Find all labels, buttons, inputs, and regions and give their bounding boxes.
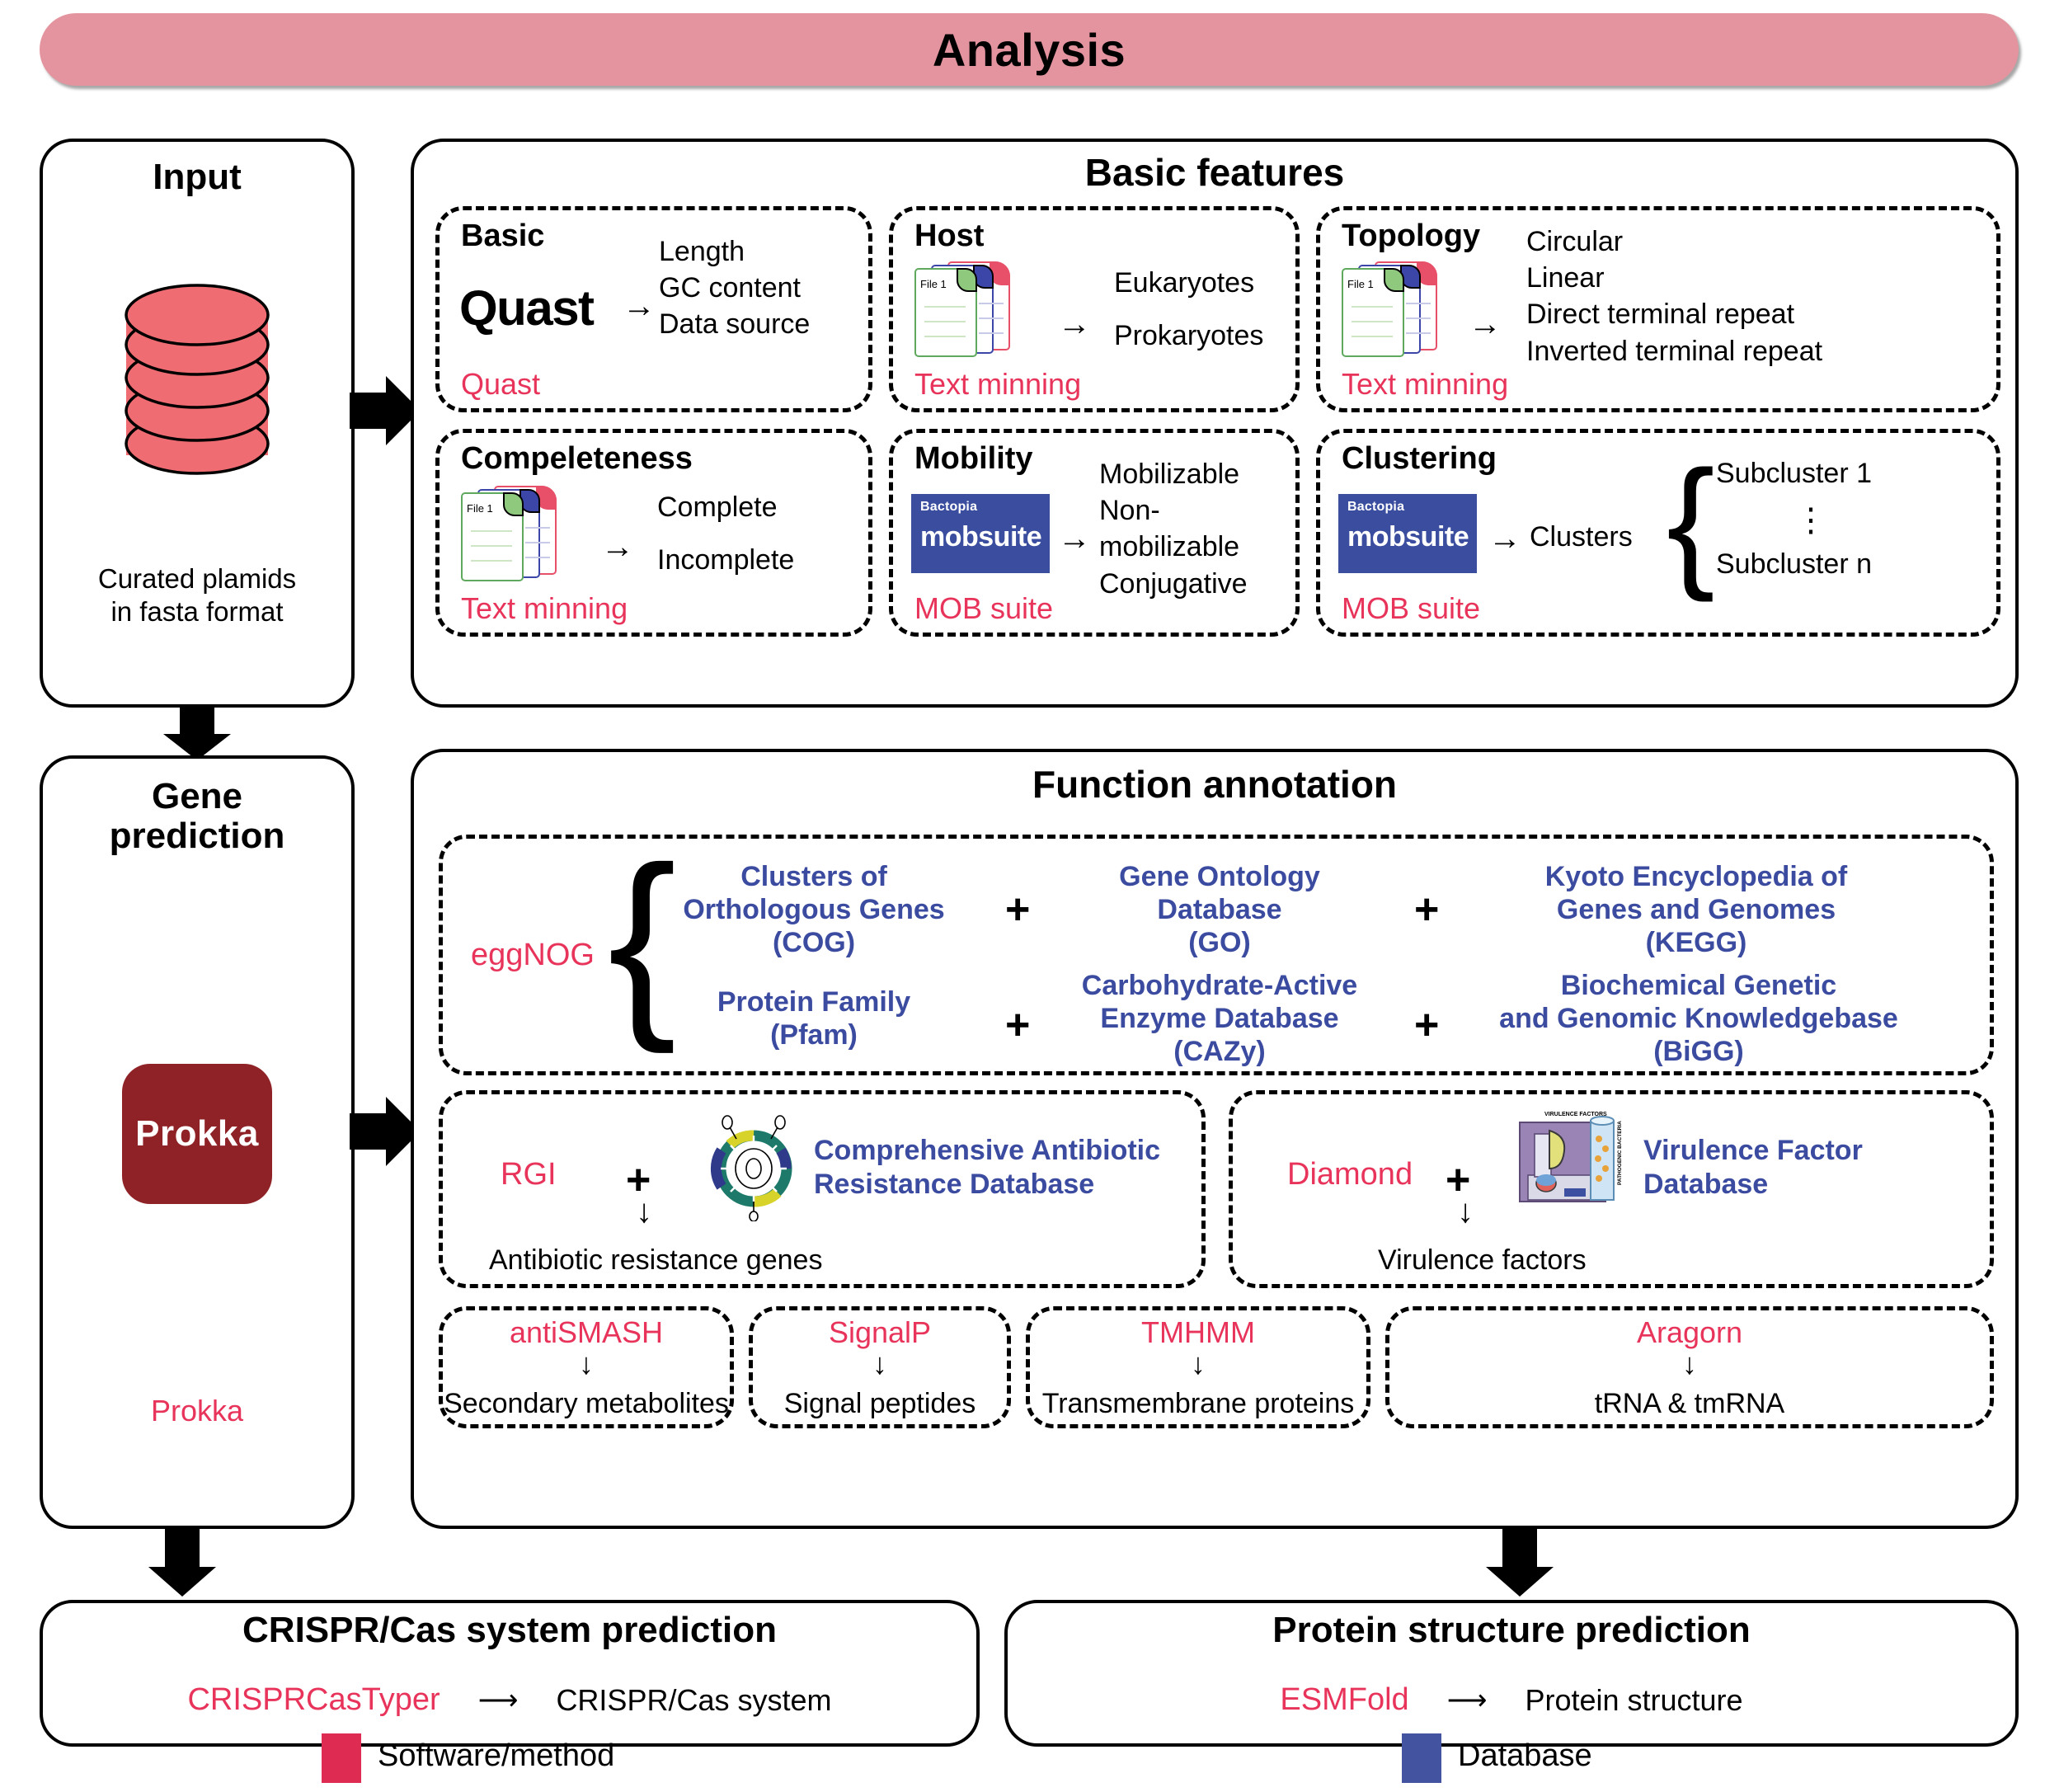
arrow-host-to-outputs: →	[1058, 308, 1091, 341]
cell-name-host: Host	[914, 219, 984, 254]
esmfold-tool-label: ESMFold	[1280, 1682, 1408, 1718]
arrow-tmhmm-to-output: ↓	[1030, 1347, 1366, 1381]
mobsuite-name: mobsuite	[1347, 521, 1469, 553]
legend-swatch-database	[1402, 1733, 1441, 1783]
subcluster-ellipsis: ⋮	[1716, 509, 1906, 532]
cell-name-completeness: Compeleteness	[461, 441, 693, 477]
db-line: Gene Ontology	[1055, 860, 1384, 893]
file-label: File 1	[467, 502, 493, 515]
db-line: Carbohydrate-Active	[1038, 969, 1401, 1002]
protein-row: ESMFold ⟶ Protein structure	[1008, 1682, 2015, 1718]
arrow-aragorn-to-output: ↓	[1389, 1347, 1990, 1381]
file-stack-icon: File 1	[1340, 261, 1441, 360]
prokka-logo-label: Prokka	[135, 1113, 259, 1155]
plus-icon: +	[1005, 1004, 1030, 1047]
cell-tool-host: Text minning	[914, 367, 1081, 402]
db-line: Protein Family	[649, 985, 979, 1018]
database-cog: Clusters of Orthologous Genes (COG)	[649, 860, 979, 959]
db-line: (GO)	[1055, 926, 1384, 959]
input-caption-line2: in fasta format	[43, 595, 351, 628]
clustering-subitems: Subcluster 1 ⋮ Subcluster n	[1716, 459, 1906, 578]
basic-features-cell-clustering: Clustering Bactopia mobsuite → Clusters …	[1316, 429, 2000, 637]
clustering-brace-icon: {	[1667, 463, 1715, 581]
output-item: Circular	[1526, 223, 1822, 260]
function-annotation-panel: Function annotation eggNOG { Clusters of…	[411, 749, 2019, 1529]
rgi-output-label: Antibiotic resistance genes	[489, 1244, 822, 1277]
db-line: Virulence Factor	[1643, 1134, 1990, 1168]
svg-text:PATHOGENIC BACTERIA: PATHOGENIC BACTERIA	[1617, 1121, 1623, 1185]
cell-name-mobility: Mobility	[914, 441, 1033, 477]
output-item: Clusters	[1530, 519, 1633, 555]
database-stack-icon	[111, 282, 283, 492]
antismash-tool-label: antiSMASH	[443, 1315, 730, 1350]
cell-outputs-basic: Length GC content Data source	[659, 233, 810, 343]
db-line: Comprehensive Antibiotic	[814, 1134, 1177, 1168]
rgi-tool-label: RGI	[501, 1157, 557, 1192]
db-line: Database	[1643, 1168, 1990, 1202]
tool-group-antismash: antiSMASH ↓ Secondary metabolites	[439, 1306, 734, 1428]
cell-outputs-clustering: Clusters	[1530, 519, 1633, 555]
rgi-card-group: RGI +	[439, 1090, 1206, 1288]
output-item: Data source	[659, 306, 810, 342]
diamond-output-label: Virulence factors	[1378, 1244, 1587, 1277]
output-item: Conjugative	[1099, 566, 1295, 602]
output-item: Prokaryotes	[1114, 317, 1263, 354]
arrow-crispr: ⟶	[478, 1684, 519, 1717]
input-caption-line1: Curated plamids	[43, 562, 351, 595]
output-item: Mobilizable	[1099, 456, 1295, 492]
cell-tool-mobility: MOB suite	[914, 591, 1053, 626]
tool-group-signalp: SignalP ↓ Signal peptides	[749, 1306, 1011, 1428]
file-label: File 1	[920, 278, 947, 290]
db-line: Kyoto Encyclopedia of	[1465, 860, 1927, 893]
output-item: GC content	[659, 270, 810, 306]
crisprcastyper-tool-label: CRISPRCasTyper	[187, 1682, 440, 1718]
cell-name-basic: Basic	[461, 219, 544, 254]
vfdb-database-label: Virulence Factor Database	[1643, 1134, 1990, 1202]
function-annotation-title: Function annotation	[414, 762, 2015, 807]
basic-features-cell-basic: Basic Quast → Length GC content Data sou…	[435, 206, 872, 412]
database-cazy: Carbohydrate-Active Enzyme Database (CAZ…	[1038, 969, 1401, 1068]
legend-label-database: Database	[1458, 1738, 1592, 1774]
crispr-title: CRISPR/Cas system prediction	[43, 1610, 976, 1651]
file-stack-icon: File 1	[913, 261, 1013, 360]
db-line: Resistance Database	[814, 1168, 1177, 1202]
arrow-completeness-to-outputs: →	[601, 530, 634, 563]
diamond-tool-label: Diamond	[1287, 1157, 1413, 1192]
db-line: (COG)	[649, 926, 979, 959]
card-logo-icon	[705, 1114, 802, 1225]
cell-outputs-mobility: Mobilizable Non-mobilizable Conjugative	[1099, 456, 1295, 602]
arrow-diamond-to-output: ↓	[1457, 1193, 1474, 1230]
db-line: Database	[1055, 893, 1384, 926]
database-kegg: Kyoto Encyclopedia of Genes and Genomes …	[1465, 860, 1927, 959]
cell-name-clustering: Clustering	[1342, 441, 1497, 477]
db-line: Enzyme Database	[1038, 1002, 1401, 1035]
mobsuite-brand: Bactopia	[920, 500, 1042, 515]
cell-outputs-host: Eukaryotes Prokaryotes	[1114, 265, 1263, 354]
arrow-function-annotation-to-protein-structure	[1484, 1527, 1555, 1602]
mobsuite-logo-icon: Bactopia mobsuite	[1338, 494, 1477, 573]
database-pfam: Protein Family (Pfam)	[649, 985, 979, 1051]
aragorn-tool-label: Aragorn	[1389, 1315, 1990, 1350]
output-item: Non-mobilizable	[1099, 492, 1295, 565]
card-database-label: Comprehensive Antibiotic Resistance Data…	[814, 1134, 1177, 1202]
output-item: Linear	[1526, 260, 1822, 296]
banner-title: Analysis	[933, 23, 1126, 77]
cell-outputs-completeness: Complete Incomplete	[657, 489, 794, 578]
arrow-clustering-to-clusters: →	[1488, 522, 1521, 555]
arrow-antismash-to-output: ↓	[443, 1347, 730, 1381]
legend-swatch-software	[322, 1733, 361, 1783]
antismash-output-label: Secondary metabolites	[443, 1388, 730, 1420]
plus-icon: +	[1005, 888, 1030, 931]
tool-group-aragorn: Aragorn ↓ tRNA & tmRNA	[1385, 1306, 1994, 1428]
signalp-output-label: Signal peptides	[753, 1388, 1007, 1420]
output-item: Length	[659, 233, 810, 270]
db-line: Clusters of	[649, 860, 979, 893]
output-item: Complete	[657, 489, 794, 525]
cell-outputs-topology: Circular Linear Direct terminal repeat I…	[1526, 223, 1822, 369]
svg-text:VIRULENCE FACTORS: VIRULENCE FACTORS	[1544, 1112, 1607, 1117]
basic-features-cell-mobility: Mobility Bactopia mobsuite → Mobilizable…	[889, 429, 1300, 637]
arrow-gene-prediction-to-crispr	[147, 1527, 218, 1602]
input-panel: Input Curated plamids in fasta format	[40, 139, 355, 708]
arrow-basic-to-outputs: →	[623, 289, 656, 322]
output-item: Direct terminal repeat	[1526, 296, 1822, 332]
cell-tool-basic: Quast	[461, 367, 540, 402]
gene-prediction-title-line1: Gene	[43, 777, 351, 816]
input-title: Input	[43, 157, 351, 198]
protein-structure-panel: Protein structure prediction ESMFold ⟶ P…	[1004, 1600, 2019, 1747]
gene-prediction-title-line2: prediction	[43, 816, 351, 856]
db-line: Biochemical Genetic	[1455, 969, 1942, 1002]
signalp-tool-label: SignalP	[753, 1315, 1007, 1350]
arrow-mobility-to-outputs: →	[1058, 522, 1091, 555]
db-line: and Genomic Knowledgebase	[1455, 1002, 1942, 1035]
tool-group-tmhmm: TMHMM ↓ Transmembrane proteins	[1026, 1306, 1370, 1428]
subcluster-item: Subcluster 1	[1716, 459, 1906, 487]
crispr-row: CRISPRCasTyper ⟶ CRISPR/Cas system	[43, 1682, 976, 1718]
database-go: Gene Ontology Database (GO)	[1055, 860, 1384, 959]
database-bigg: Biochemical Genetic and Genomic Knowledg…	[1455, 969, 1942, 1068]
quast-wordmark-icon: Quast	[459, 280, 594, 336]
file-label: File 1	[1347, 278, 1374, 290]
basic-features-cell-topology: Topology File 1 → Circular Linear Direct…	[1316, 206, 2000, 412]
plus-icon: +	[1414, 888, 1439, 931]
prokka-logo: Prokka	[122, 1064, 272, 1204]
db-line: (Pfam)	[649, 1018, 979, 1051]
output-item: Inverted terminal repeat	[1526, 333, 1822, 369]
diamond-vfdb-group: Diamond + VIRULENCE FACTORS PATHOGEN	[1229, 1090, 1994, 1288]
gene-prediction-panel: Gene prediction Prokka Prokka	[40, 755, 355, 1529]
legend-label-software: Software/method	[378, 1738, 614, 1774]
arrow-rgi-to-output: ↓	[636, 1193, 652, 1230]
cell-tool-completeness: Text minning	[461, 591, 628, 626]
basic-features-title: Basic features	[414, 150, 2015, 195]
gene-prediction-title: Gene prediction	[43, 777, 351, 857]
eggnog-tool-label: eggNOG	[471, 938, 595, 973]
db-line: (CAZy)	[1038, 1035, 1401, 1068]
crispr-output-label: CRISPR/Cas system	[556, 1683, 831, 1718]
eggnog-group: eggNOG { Clusters of Orthologous Genes (…	[439, 835, 1994, 1075]
db-line: (KEGG)	[1465, 926, 1927, 959]
aragorn-output-label: tRNA & tmRNA	[1389, 1388, 1990, 1420]
protein-title: Protein structure prediction	[1008, 1610, 2015, 1651]
output-item: Incomplete	[657, 542, 794, 578]
input-caption: Curated plamids in fasta format	[43, 562, 351, 629]
cell-name-topology: Topology	[1342, 219, 1480, 254]
cell-tool-topology: Text minning	[1342, 367, 1508, 402]
tmhmm-tool-label: TMHMM	[1030, 1315, 1366, 1350]
basic-features-panel: Basic features Basic Quast → Length GC c…	[411, 139, 2019, 708]
arrow-topology-to-outputs: →	[1469, 308, 1502, 341]
subcluster-item: Subcluster n	[1716, 550, 1906, 578]
file-stack-icon: File 1	[459, 486, 560, 585]
mobsuite-logo-icon: Bactopia mobsuite	[911, 494, 1050, 573]
output-item: Eukaryotes	[1114, 265, 1263, 301]
db-line: Genes and Genomes	[1465, 893, 1927, 926]
arrow-signalp-to-output: ↓	[753, 1347, 1007, 1381]
analysis-banner: Analysis	[40, 13, 2019, 86]
plus-icon: +	[1414, 1004, 1439, 1047]
crispr-panel: CRISPR/Cas system prediction CRISPRCasTy…	[40, 1600, 980, 1747]
tmhmm-output-label: Transmembrane proteins	[1030, 1388, 1366, 1420]
basic-features-cell-completeness: Compeleteness File 1 → Complete Incomple…	[435, 429, 872, 637]
db-line: Orthologous Genes	[649, 893, 979, 926]
db-line: (BiGG)	[1455, 1035, 1942, 1068]
protein-output-label: Protein structure	[1525, 1683, 1742, 1718]
arrow-protein: ⟶	[1447, 1684, 1488, 1717]
cell-tool-clustering: MOB suite	[1342, 591, 1480, 626]
mobsuite-brand: Bactopia	[1347, 500, 1469, 515]
basic-features-cell-host: Host File 1 → Eukaryotes Prokaryotes Tex…	[889, 206, 1300, 412]
mobsuite-name: mobsuite	[920, 521, 1042, 553]
vfdb-logo-icon: VIRULENCE FACTORS PATHOGENIC BACTERIA	[1513, 1106, 1629, 1214]
prokka-tool-label: Prokka	[43, 1394, 351, 1428]
